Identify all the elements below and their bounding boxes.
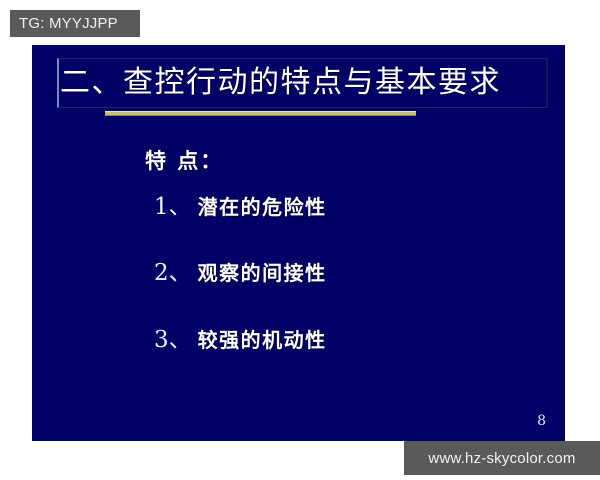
presentation-slide: 二、查控行动的特点与基本要求 特 点： 1、 潜在的危险性 2、 观察的间接性 … xyxy=(32,45,565,441)
slide-page-number: 8 xyxy=(537,413,546,429)
list-item-label: 潜在的危险性 xyxy=(198,191,327,220)
title-underline-rule xyxy=(105,111,416,116)
list-item: 2、 观察的间接性 xyxy=(154,253,327,287)
tg-watermark-label: TG: MYYJJPP xyxy=(19,15,118,32)
list-item-number: 1、 xyxy=(154,187,192,221)
tg-watermark-badge: TG: MYYJJPP xyxy=(10,10,140,37)
list-item: 1、 潜在的危险性 xyxy=(154,187,327,221)
list-item-number: 2、 xyxy=(154,253,192,287)
list-item-number: 3、 xyxy=(154,320,192,354)
list-item-label: 观察的间接性 xyxy=(198,257,327,286)
list-item-label: 较强的机动性 xyxy=(198,324,327,353)
list-item: 3、 较强的机动性 xyxy=(154,320,327,354)
site-watermark-bar: www.hz-skycolor.com xyxy=(404,441,600,475)
body-heading: 特 点： xyxy=(145,145,223,175)
site-watermark-label: www.hz-skycolor.com xyxy=(428,450,575,467)
slide-title: 二、查控行动的特点与基本要求 xyxy=(60,57,501,101)
